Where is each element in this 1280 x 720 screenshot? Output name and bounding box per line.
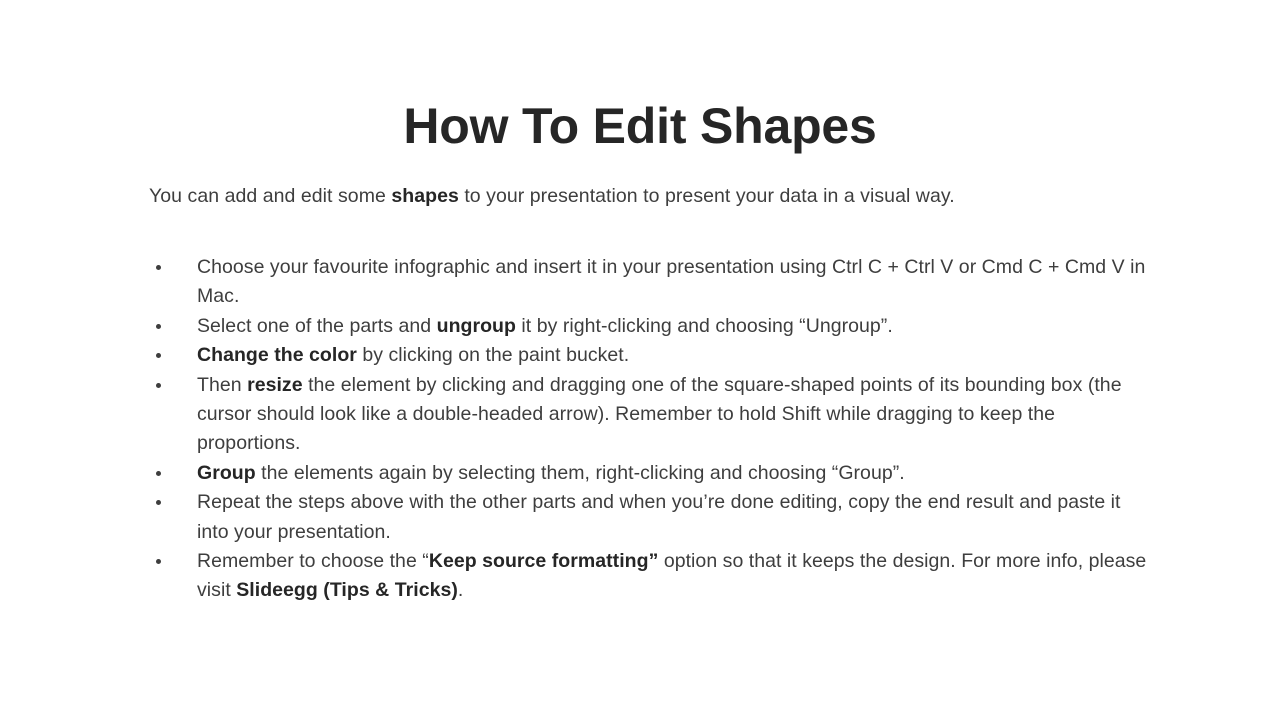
list-item-segment: Choose your favourite infographic and in… <box>197 256 1145 307</box>
bullet-dot-icon <box>156 265 161 270</box>
list-item-emphasis: Change the color <box>197 344 357 366</box>
list-item-segment: Then <box>197 374 247 396</box>
list-item-segment: it by right-clicking and choosing “Ungro… <box>516 315 893 337</box>
list-item-segment: Repeat the steps above with the other pa… <box>197 491 1121 542</box>
bullet-dot-icon <box>156 324 161 329</box>
intro-text-part2: to your presentation to present your dat… <box>459 185 955 207</box>
list-item: Group the elements again by selecting th… <box>149 459 1149 488</box>
list-item-segment: the element by clicking and dragging one… <box>197 374 1122 455</box>
list-item-text: Change the color by clicking on the pain… <box>197 341 1149 370</box>
list-item-segment: the elements again by selecting them, ri… <box>256 462 905 484</box>
list-item-segment: Select one of the parts and <box>197 315 437 337</box>
list-item-text: Choose your favourite infographic and in… <box>197 253 1149 312</box>
list-item-segment: Remember to choose the “ <box>197 550 429 572</box>
intro-paragraph: You can add and edit some shapes to your… <box>149 182 1149 211</box>
instruction-bullet-list: Choose your favourite infographic and in… <box>149 253 1149 606</box>
list-item-text: Then resize the element by clicking and … <box>197 371 1149 459</box>
list-item-emphasis: resize <box>247 374 303 396</box>
bullet-dot-icon <box>156 471 161 476</box>
list-item: Select one of the parts and ungroup it b… <box>149 312 1149 341</box>
presentation-slide: How To Edit Shapes You can add and edit … <box>0 0 1280 720</box>
bullet-dot-icon <box>156 559 161 564</box>
list-item-text: Select one of the parts and ungroup it b… <box>197 312 1149 341</box>
list-item-segment: by clicking on the paint bucket. <box>357 344 629 366</box>
list-item-emphasis: Group <box>197 462 256 484</box>
list-item-emphasis: Keep source formatting” <box>429 550 659 572</box>
list-item: Change the color by clicking on the pain… <box>149 341 1149 370</box>
list-item: Then resize the element by clicking and … <box>149 371 1149 459</box>
list-item-segment: . <box>458 579 463 601</box>
list-item: Choose your favourite infographic and in… <box>149 253 1149 312</box>
bullet-dot-icon <box>156 383 161 388</box>
intro-text-part1: You can add and edit some <box>149 185 391 207</box>
list-item-emphasis: Slideegg (Tips & Tricks) <box>236 579 458 601</box>
list-item-text: Remember to choose the “Keep source form… <box>197 547 1149 606</box>
list-item-text: Group the elements again by selecting th… <box>197 459 1149 488</box>
list-item-text: Repeat the steps above with the other pa… <box>197 488 1149 547</box>
list-item: Remember to choose the “Keep source form… <box>149 547 1149 606</box>
page-title: How To Edit Shapes <box>0 98 1280 154</box>
list-item: Repeat the steps above with the other pa… <box>149 488 1149 547</box>
bullet-dot-icon <box>156 500 161 505</box>
list-item-emphasis: ungroup <box>437 315 516 337</box>
bullet-dot-icon <box>156 353 161 358</box>
intro-emphasis-shapes: shapes <box>391 185 459 207</box>
